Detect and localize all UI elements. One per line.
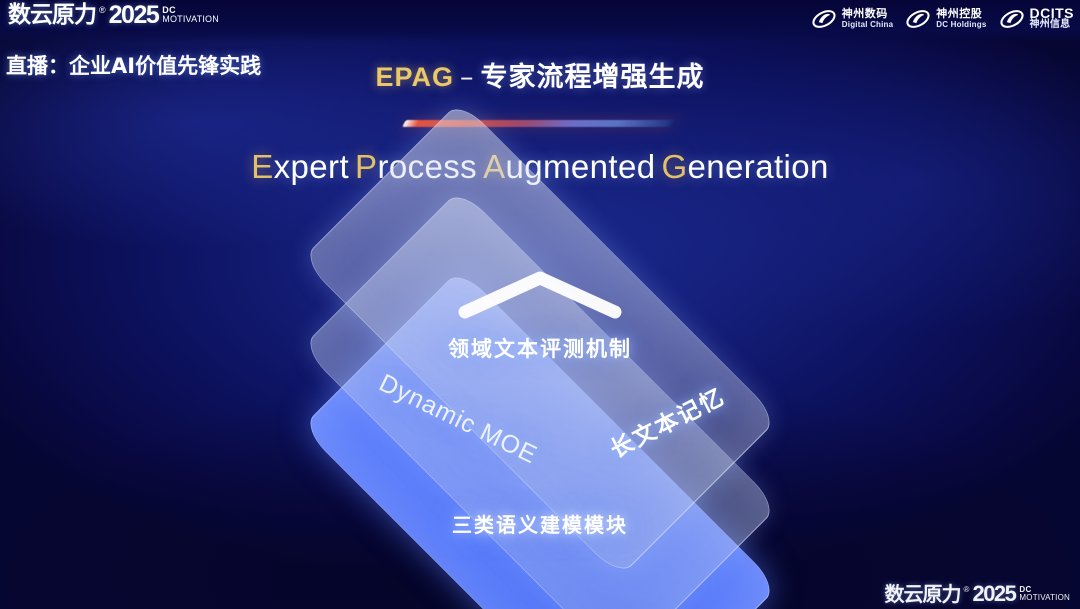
watermark-year: 2025 (972, 583, 1015, 605)
partner-logo-text: 神州数码 Digital China (842, 8, 894, 30)
brand-year: 2025 (109, 3, 159, 28)
watermark-motivation-label: MOTIVATION (1019, 594, 1070, 602)
subtitle-word-generation: Generation (661, 148, 828, 186)
subtitle-word-expert: Expert (251, 148, 349, 186)
stack-label-bottom: 三类语义建模模块 (452, 509, 628, 538)
watermark-name-cn: 数云原力 (885, 583, 961, 605)
partner-logo-digital-china: 神州数码 Digital China (811, 6, 894, 32)
partner-name-cn: 神州控股 (936, 8, 986, 19)
slide-canvas: 数云原力 ® 2025 DC MOTIVATION 直播：企业AI价值先锋实践 … (0, 0, 1080, 609)
swirl-icon (811, 6, 837, 32)
partner-logo-text: 神州控股 DC Holdings (936, 8, 986, 30)
subtitle-initial: G (661, 148, 687, 185)
subtitle-initial: P (355, 148, 377, 185)
partner-logo-dcits: DCITS 神州信息 (999, 6, 1075, 32)
title-dash: – (454, 62, 481, 93)
chevron-up-icon (455, 268, 625, 320)
subtitle-initial: E (251, 148, 273, 185)
brand-motivation-label: MOTIVATION (162, 15, 219, 24)
partner-logo-text: DCITS 神州信息 (1030, 8, 1075, 30)
brand-dc-motivation: DC MOTIVATION (162, 3, 219, 24)
subtitle-remainder: xpert (274, 148, 349, 185)
partner-logo-dc-holdings: 神州控股 DC Holdings (905, 6, 986, 32)
title-acronym: EPAG (375, 62, 454, 92)
watermark-dc-motivation: DC MOTIVATION (1019, 583, 1070, 602)
brand-logo: 数云原力 ® 2025 DC MOTIVATION (8, 3, 219, 28)
footer-watermark: 数云原力 ® 2025 DC MOTIVATION (885, 583, 1070, 605)
partner-name-cn: DCITS (1030, 8, 1075, 19)
swirl-icon (905, 6, 931, 32)
partner-name-en: Digital China (842, 19, 894, 30)
partner-name-cn: 神州数码 (842, 8, 894, 19)
brand-name-cn: 数云原力 (8, 3, 96, 28)
partner-name-en: DC Holdings (936, 19, 986, 30)
brand-registered-mark: ® (99, 3, 106, 15)
slide-title: EPAG–专家流程增强生成 (0, 55, 1080, 94)
partner-name-en: 神州信息 (1030, 19, 1075, 30)
partner-logo-group: 神州数码 Digital China 神州控股 DC Holdings DCIT… (811, 6, 1074, 32)
watermark-registered-mark: ® (964, 583, 970, 595)
stack-label-top: 领域文本评测机制 (448, 333, 632, 363)
subtitle-remainder: eneration (688, 148, 829, 185)
swirl-icon (999, 6, 1025, 32)
title-chinese: 专家流程增强生成 (481, 62, 705, 93)
